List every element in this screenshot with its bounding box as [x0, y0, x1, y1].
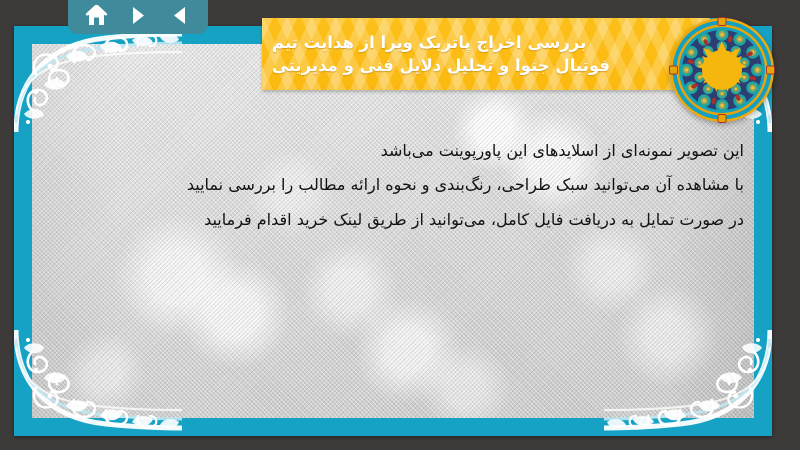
viewer-navigation-bar — [68, 0, 208, 34]
forward-button[interactable] — [123, 2, 153, 28]
triangle-right-icon — [130, 6, 147, 25]
home-icon — [85, 5, 108, 26]
back-button[interactable] — [164, 2, 194, 28]
title-line-1: بررسی اخراج پاتریک ویرا از هدایت تیم — [272, 31, 586, 54]
body-line-3: در صورت تمایل به دریافت فایل کامل، می‌تو… — [68, 203, 744, 237]
banner-body: بررسی اخراج پاتریک ویرا از هدایت تیم فوت… — [262, 18, 710, 90]
title-line-2: فوتبال جنوا و تحلیل دلایل فنی و مدیریتی — [272, 54, 610, 77]
banner-left-edge — [710, 18, 720, 90]
body-line-1: این تصویر نمونه‌ای از اسلایدهای این پاور… — [68, 134, 744, 168]
slide-viewer: این تصویر نمونه‌ای از اسلایدهای این پاور… — [0, 0, 800, 450]
slide-title-banner: بررسی اخراج پاتریک ویرا از هدایت تیم فوت… — [262, 18, 720, 90]
slide-body-text: این تصویر نمونه‌ای از اسلایدهای این پاور… — [42, 134, 744, 237]
body-line-2: با مشاهده آن می‌توانید سبک طراحی، رنگ‌بن… — [68, 168, 744, 202]
home-button[interactable] — [82, 2, 112, 28]
triangle-left-icon — [171, 6, 188, 25]
